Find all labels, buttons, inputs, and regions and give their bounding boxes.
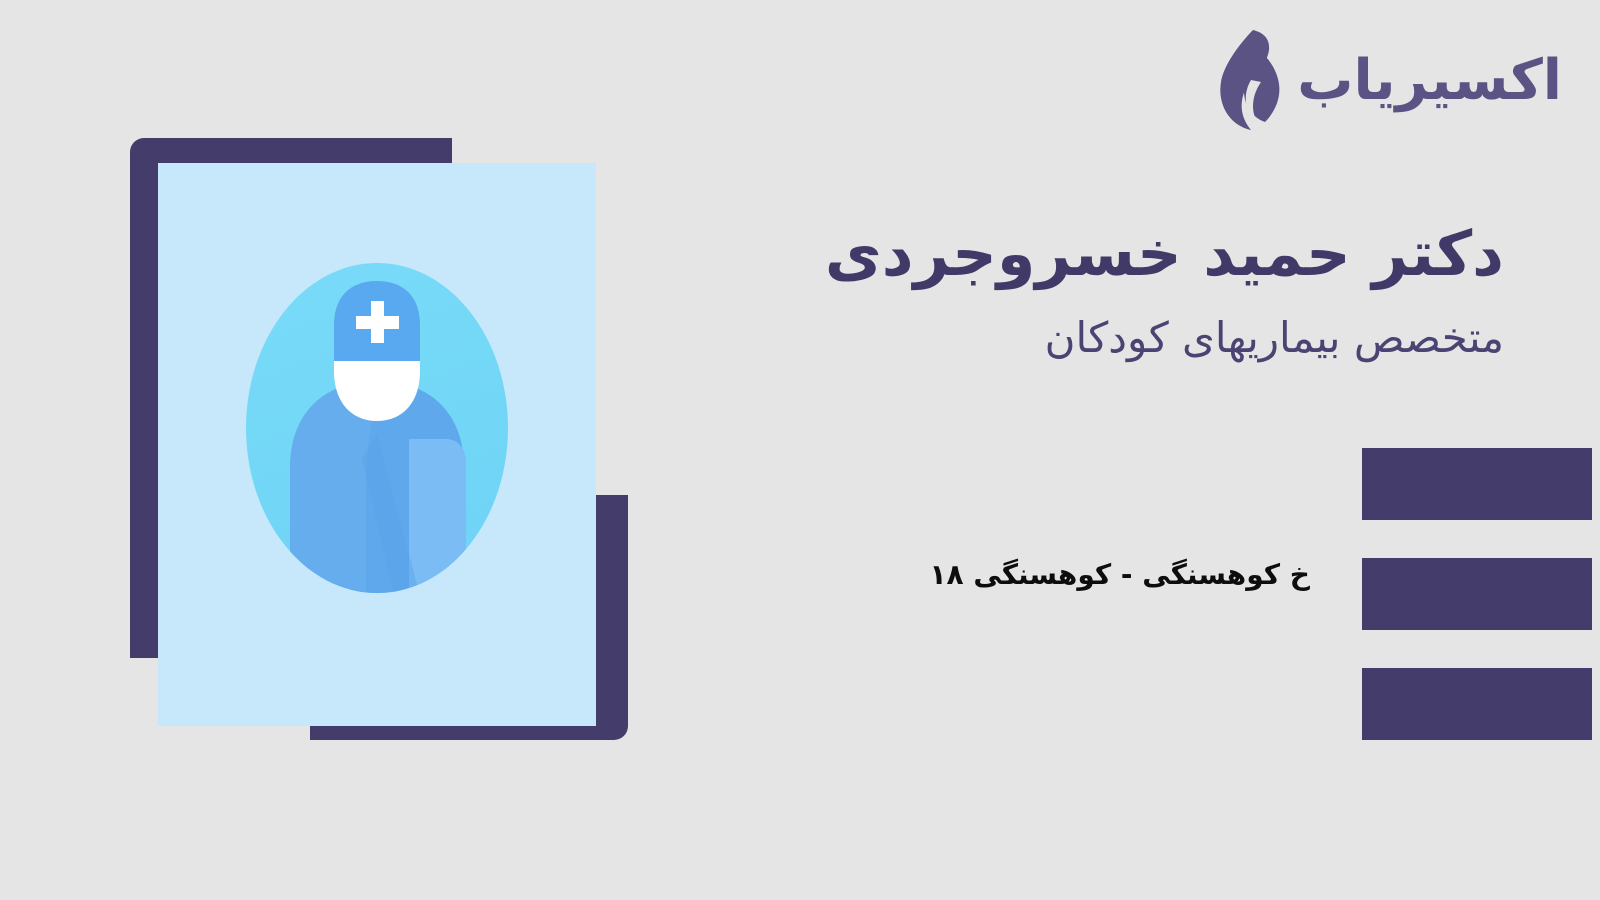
doctor-avatar-icon bbox=[246, 263, 508, 593]
decor-bar-3 bbox=[1362, 668, 1592, 740]
poster-canvas: اکسیریاب bbox=[0, 0, 1600, 900]
doctor-text-block: دکتر حمید خسروجردی متخصص بیماریهای کودکا… bbox=[684, 215, 1504, 365]
decor-bar-1 bbox=[1362, 448, 1592, 520]
brand-logo[interactable]: اکسیریاب bbox=[1195, 28, 1562, 133]
page-title: دکتر حمید خسروجردی bbox=[684, 215, 1504, 293]
doctor-address: خ کوهسنگی - کوهسنگی ۱۸ bbox=[929, 558, 1310, 591]
decor-bars bbox=[1362, 448, 1592, 740]
doctor-specialty: متخصص بیماریهای کودکان bbox=[684, 311, 1504, 366]
doctor-illustration bbox=[0, 0, 700, 900]
brand-name: اکسیریاب bbox=[1297, 53, 1562, 109]
decor-bar-2 bbox=[1362, 558, 1592, 630]
flame-drop-icon bbox=[1195, 28, 1287, 133]
